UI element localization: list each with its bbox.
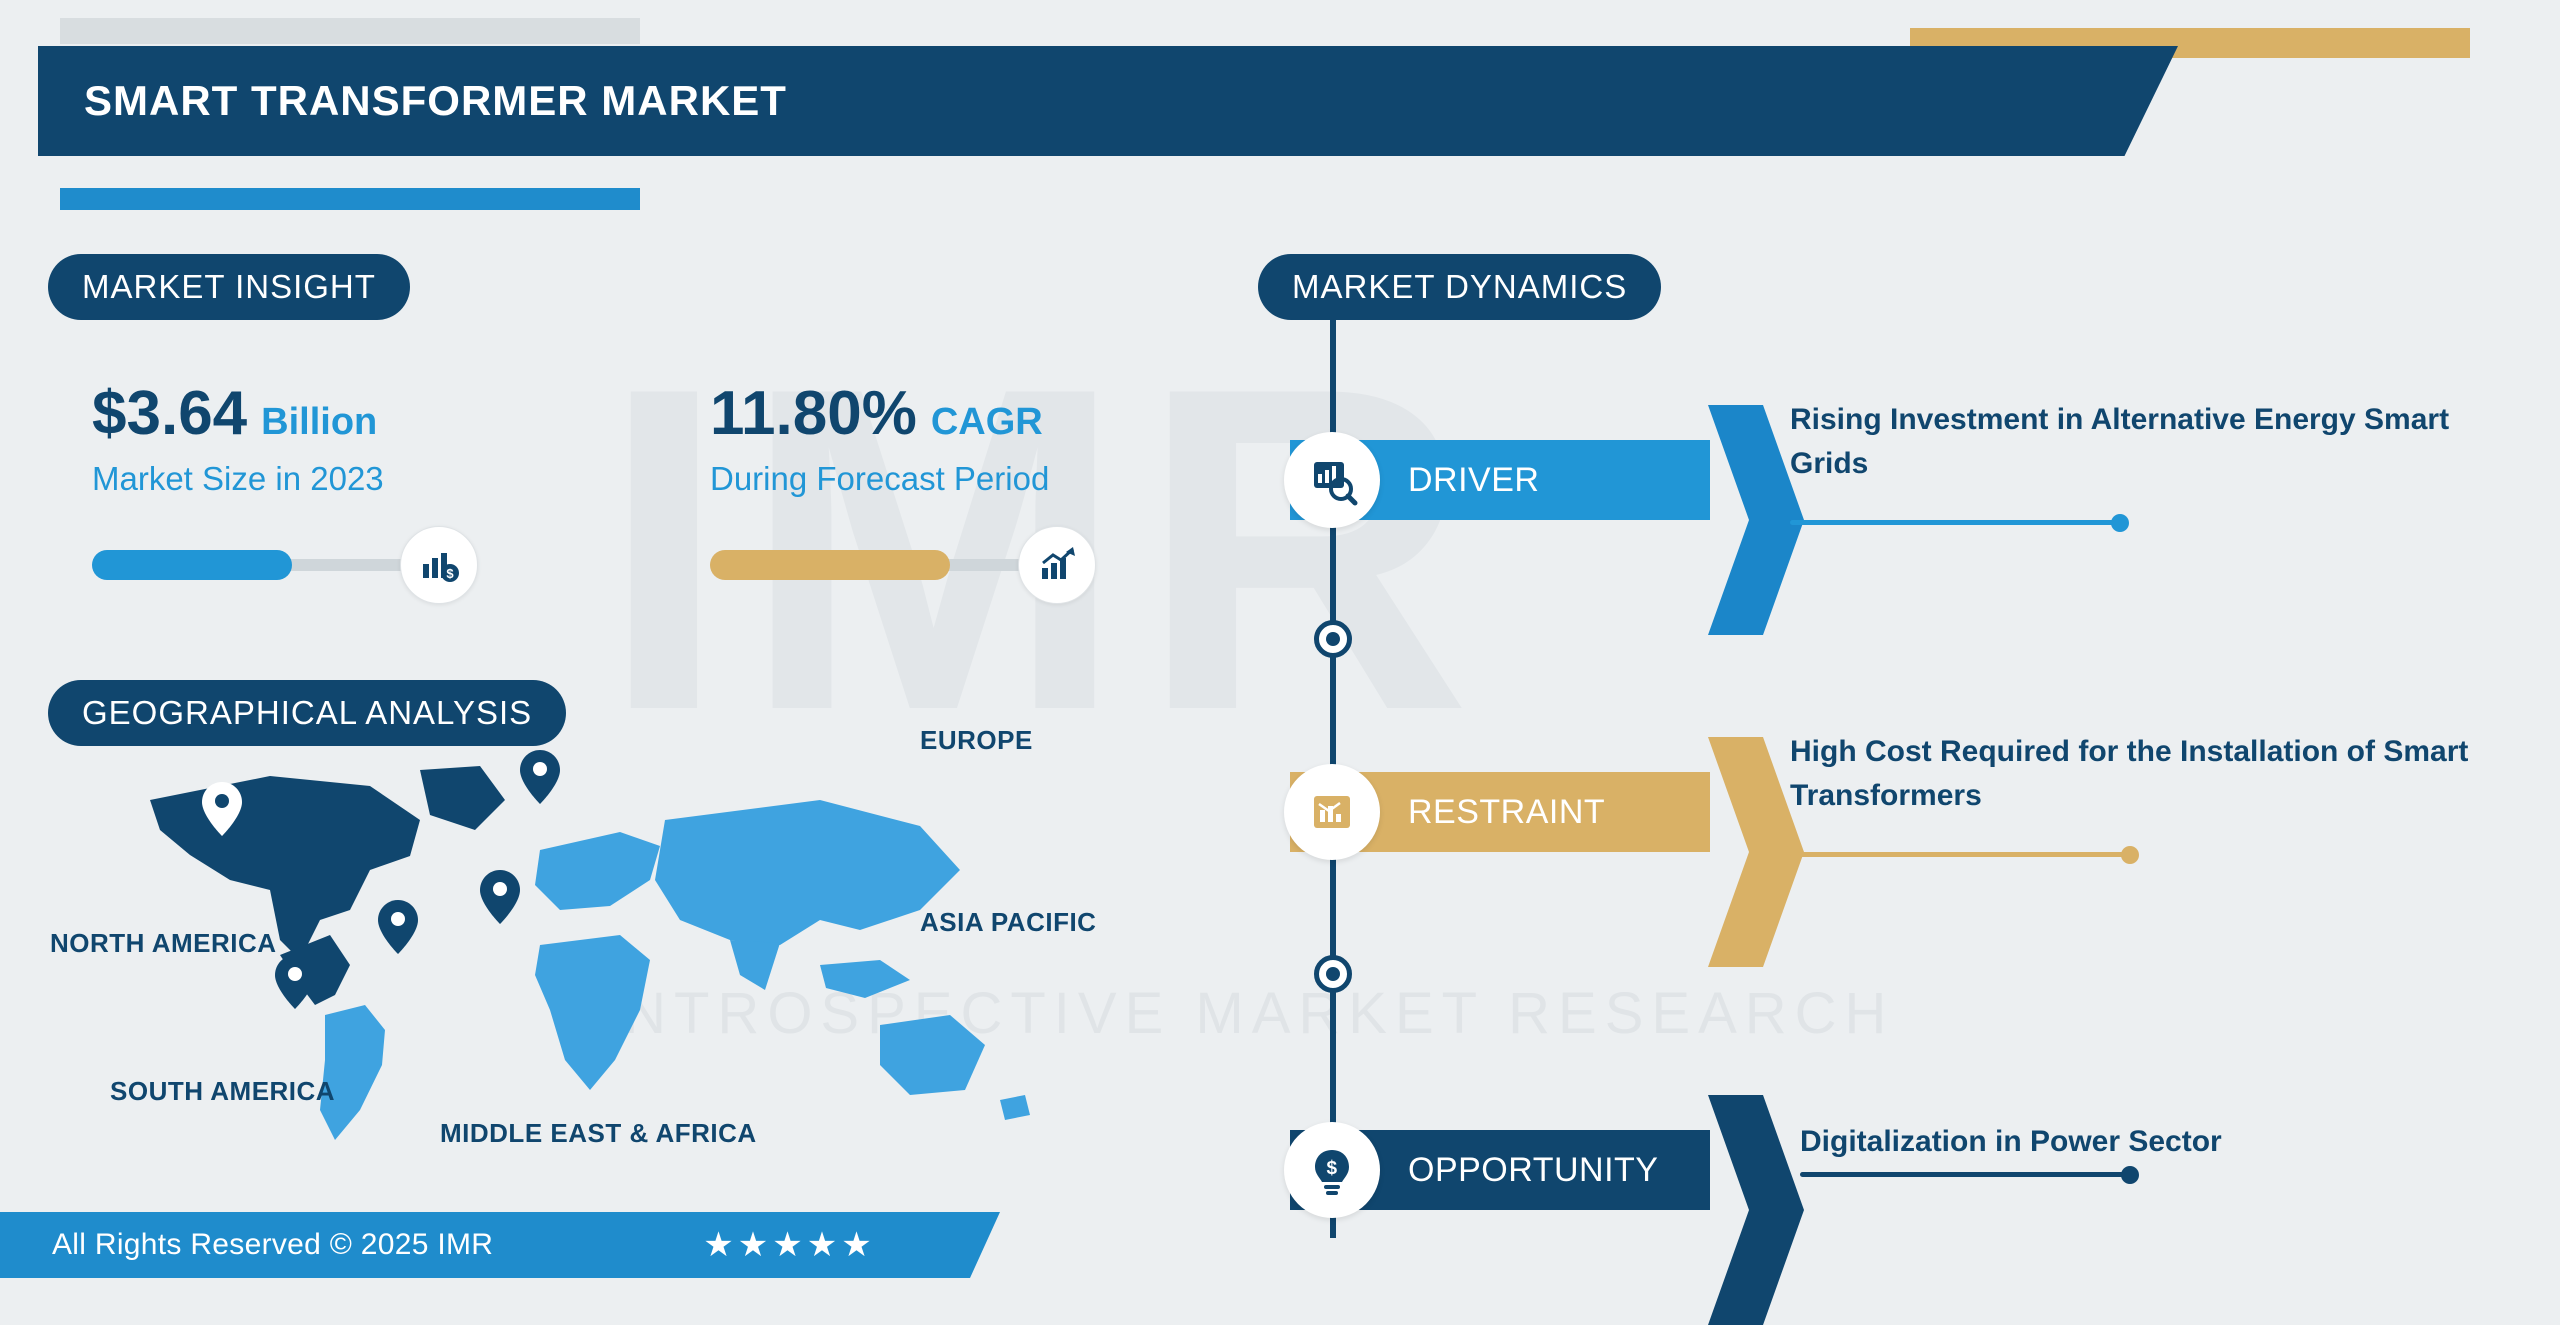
opportunity-label: OPPORTUNITY — [1408, 1151, 1658, 1190]
top-grey-bar — [60, 18, 640, 44]
map-pin-north-america — [202, 782, 242, 841]
map-pin-middle-east-africa — [378, 900, 418, 959]
lightbulb-dollar-icon: $ — [1284, 1122, 1380, 1218]
market-size-caption: Market Size in 2023 — [92, 460, 552, 498]
svg-text:$: $ — [1326, 1158, 1337, 1179]
cagr-bar-row — [710, 526, 1230, 604]
world-map: NORTH AMERICA EUROPE ASIA PACIFIC SOUTH … — [120, 760, 1180, 1200]
opportunity-text: Digitalization in Power Sector — [1800, 1120, 2480, 1164]
bar-chart-dollar-icon: $ — [400, 526, 478, 604]
region-label-south-america: SOUTH AMERICA — [110, 1076, 335, 1107]
market-size-bar-fill — [92, 550, 292, 580]
driver-bar: DRIVER — [1290, 440, 1710, 520]
driver-underline — [1790, 520, 2120, 525]
market-size-unit: Billion — [261, 402, 377, 444]
region-label-middle-east-africa: MIDDLE EAST & AFRICA — [440, 1118, 757, 1149]
cagr-bar-fill — [710, 550, 950, 580]
opportunity-chip: $ OPPORTUNITY — [1290, 1130, 1710, 1210]
header-accent-bar — [60, 188, 640, 210]
market-size-value: $3.64 — [92, 380, 247, 448]
map-pin-asia-pacific — [480, 870, 520, 929]
driver-chip: DRIVER — [1290, 440, 1710, 520]
cagr-unit: CAGR — [931, 402, 1043, 444]
map-pin-europe — [520, 750, 560, 809]
footer-bar: All Rights Reserved © 2025 IMR ★★★★★ — [0, 1212, 1000, 1278]
rating-stars: ★★★★★ — [703, 1225, 875, 1265]
dynamics-item-opportunity: $ OPPORTUNITY Digitalization in Power Se… — [1290, 1110, 2490, 1230]
region-label-north-america: NORTH AMERICA — [50, 928, 277, 959]
restraint-text: High Cost Required for the Installation … — [1790, 730, 2530, 817]
growth-chart-icon — [1018, 526, 1096, 604]
declining-chart-icon — [1284, 764, 1380, 860]
timeline-node-1 — [1314, 620, 1352, 658]
opportunity-arrow — [1708, 1095, 1804, 1325]
cagr-caption: During Forecast Period — [710, 460, 1230, 498]
restraint-bar: RESTRAINT — [1290, 772, 1710, 852]
restraint-underline — [1790, 852, 2130, 857]
analytics-search-icon — [1284, 432, 1380, 528]
stat-cagr: 11.80% CAGR During Forecast Period — [710, 380, 1230, 604]
restraint-chip: RESTRAINT — [1290, 772, 1710, 852]
cagr-value-row: 11.80% CAGR — [710, 380, 1230, 448]
region-label-asia-pacific: ASIA PACIFIC — [920, 907, 1096, 938]
section-label-market-insight: MARKET INSIGHT — [48, 254, 410, 320]
dynamics-item-driver: DRIVER Rising Investment in Alternative … — [1290, 420, 2490, 540]
header-banner: SMART TRANSFORMER MARKET — [38, 46, 2178, 156]
driver-text: Rising Investment in Alternative Energy … — [1790, 398, 2470, 485]
map-pin-south-america — [275, 955, 315, 1014]
market-size-bar-track — [92, 559, 422, 571]
stat-value-row: $3.64 Billion — [92, 380, 552, 448]
market-size-bar-row: $ — [92, 526, 552, 604]
restraint-label: RESTRAINT — [1408, 793, 1605, 832]
page-title: SMART TRANSFORMER MARKET — [84, 77, 787, 125]
opportunity-bar: $ OPPORTUNITY — [1290, 1130, 1710, 1210]
infographic-root: IMR INTROSPECTIVE MARKET RESEARCH SMART … — [0, 0, 2560, 1278]
copyright-text: All Rights Reserved © 2025 IMR — [52, 1228, 493, 1262]
driver-label: DRIVER — [1408, 461, 1539, 500]
opportunity-underline — [1800, 1172, 2130, 1177]
cagr-bar-track — [710, 559, 1040, 571]
section-label-market-dynamics: MARKET DYNAMICS — [1258, 254, 1661, 320]
stat-market-size: $3.64 Billion Market Size in 2023 $ — [92, 380, 552, 604]
cagr-value: 11.80% — [710, 380, 917, 448]
dynamics-item-restraint: RESTRAINT High Cost Required for the Ins… — [1290, 752, 2560, 872]
timeline-node-2 — [1314, 955, 1352, 993]
section-label-geographical-analysis: GEOGRAPHICAL ANALYSIS — [48, 680, 566, 746]
svg-text:$: $ — [446, 566, 454, 581]
region-label-europe: EUROPE — [920, 725, 1033, 756]
